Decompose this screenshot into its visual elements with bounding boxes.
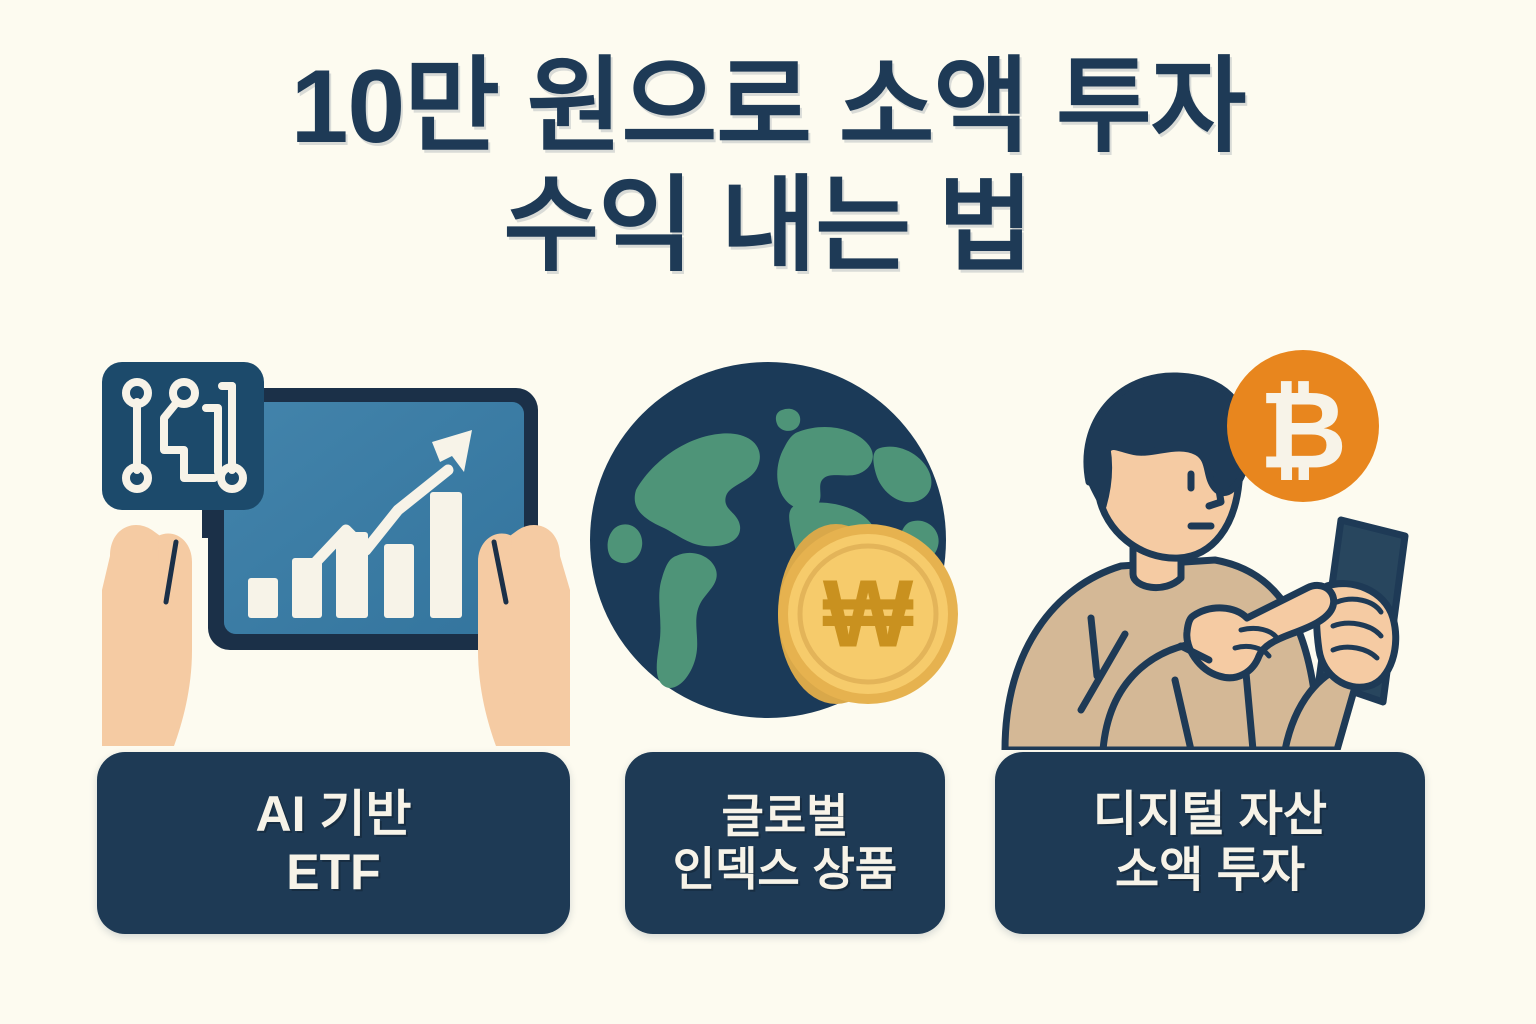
right-hand [478, 525, 570, 746]
illustration-ai-tablet [96, 350, 576, 750]
card-global-index-line-1: 글로벌 [722, 790, 849, 843]
card-digital-asset[interactable]: 디지털 자산 소액 투자 [995, 752, 1425, 934]
chart-bar-5 [430, 492, 462, 618]
ai-tablet-svg [96, 350, 576, 750]
card-digital-asset-line-2: 소액 투자 [1115, 843, 1305, 899]
label-card-row: AI 기반 ETF 글로벌 인덱스 상품 디지털 자산 소액 투자 [0, 752, 1536, 934]
card-digital-asset-line-1: 디지털 자산 [1093, 787, 1327, 843]
card-ai-etf-line-2: ETF [286, 843, 380, 901]
chart-bar-4 [384, 544, 414, 618]
card-ai-etf-line-1: AI 기반 [256, 785, 412, 843]
person-svg: ₿ [985, 350, 1440, 750]
illustration-digital-person: ₿ [985, 350, 1440, 750]
title-line-2: 수익 내는 법 [0, 167, 1536, 286]
illustration-row: ₩ [0, 350, 1536, 750]
card-global-index-line-2: 인덱스 상품 [673, 843, 897, 896]
globe-svg: ₩ [580, 350, 980, 750]
illustration-global-globe: ₩ [580, 350, 980, 750]
poster-canvas: 10만 원으로 소액 투자 수익 내는 법 [0, 0, 1536, 1024]
page-title: 10만 원으로 소액 투자 수익 내는 법 [0, 48, 1536, 285]
card-ai-etf[interactable]: AI 기반 ETF [97, 752, 570, 934]
chart-bar-1 [248, 578, 278, 618]
coin-won-symbol: ₩ [823, 561, 914, 668]
card-global-index[interactable]: 글로벌 인덱스 상품 [625, 752, 945, 934]
left-hand [102, 525, 192, 746]
bitcoin-symbol: ₿ [1259, 370, 1347, 491]
title-line-1: 10만 원으로 소액 투자 [0, 48, 1536, 167]
